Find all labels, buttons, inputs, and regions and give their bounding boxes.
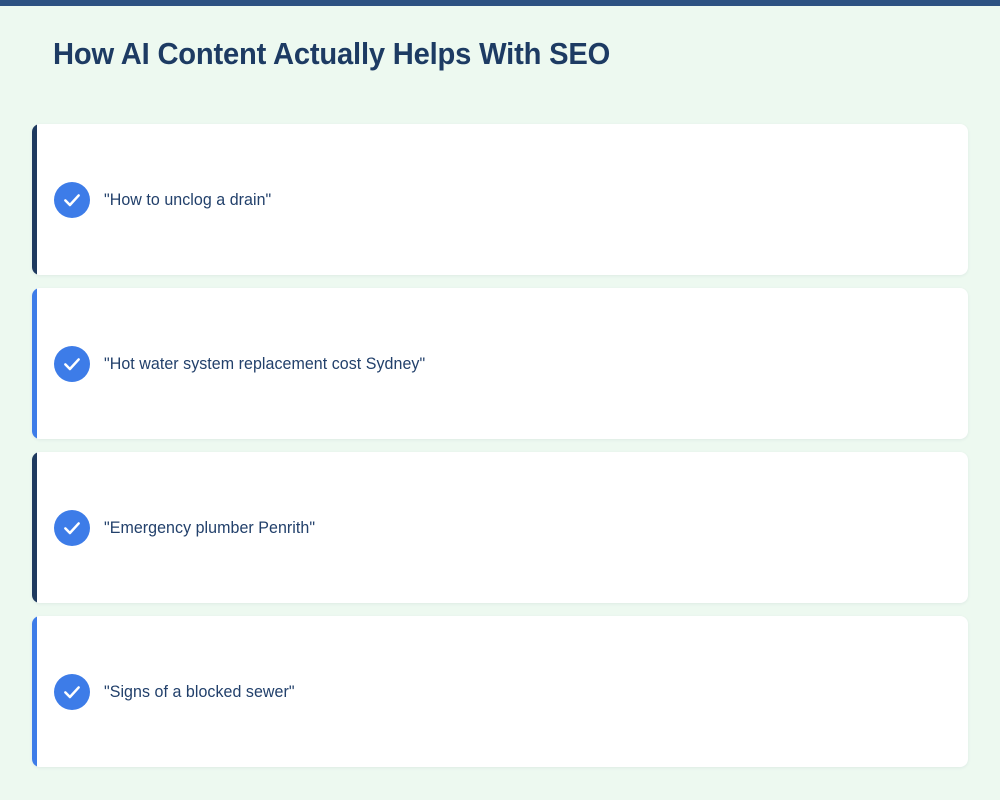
- card-accent-bar: [32, 288, 37, 439]
- list-item-label: "Signs of a blocked sewer": [104, 681, 295, 703]
- list-item-label: "Emergency plumber Penrith": [104, 517, 315, 539]
- card-accent-bar: [32, 616, 37, 767]
- list-item[interactable]: "Hot water system replacement cost Sydne…: [32, 288, 968, 439]
- check-circle-icon: [54, 182, 90, 218]
- check-circle-icon: [54, 674, 90, 710]
- list-item[interactable]: "Emergency plumber Penrith": [32, 452, 968, 603]
- card-accent-bar: [32, 452, 37, 603]
- keyword-card-list: "How to unclog a drain" "Hot water syste…: [32, 124, 968, 780]
- check-circle-icon: [54, 346, 90, 382]
- check-circle-icon: [54, 510, 90, 546]
- list-item[interactable]: "How to unclog a drain": [32, 124, 968, 275]
- card-accent-bar: [32, 124, 37, 275]
- list-item-label: "How to unclog a drain": [104, 189, 271, 211]
- list-item-label: "Hot water system replacement cost Sydne…: [104, 353, 425, 375]
- page-container: How AI Content Actually Helps With SEO "…: [0, 6, 1000, 800]
- page-title: How AI Content Actually Helps With SEO: [53, 34, 610, 74]
- list-item[interactable]: "Signs of a blocked sewer": [32, 616, 968, 767]
